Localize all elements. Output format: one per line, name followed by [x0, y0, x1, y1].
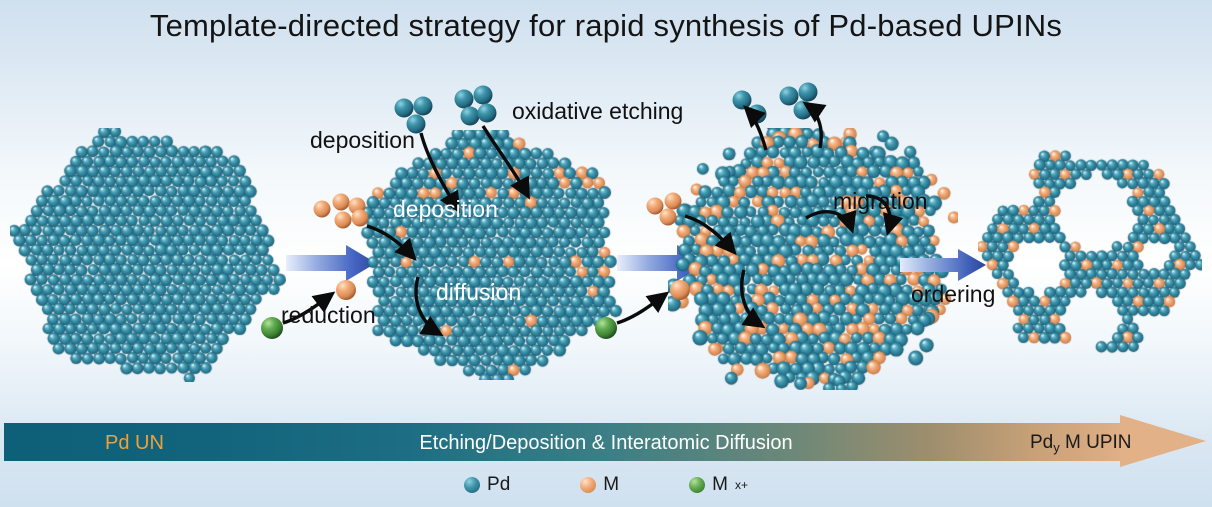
legend-m: M — [580, 474, 619, 496]
label-oxidative-etching: oxidative etching — [512, 100, 683, 123]
product-suffix-text: M UPIN — [1065, 432, 1132, 453]
arrow-diffusion-stage3 — [742, 270, 762, 326]
legend-m-ion: Mx+ — [689, 474, 748, 496]
legend-m-ion-label: M — [712, 474, 728, 496]
label-reduction-1: reduction — [281, 304, 376, 327]
free-m-atom-cluster-stage3 — [647, 193, 682, 226]
m-sphere-icon — [580, 477, 596, 493]
product-prefix: Pd — [1030, 432, 1053, 453]
label-migration: migration — [833, 190, 928, 213]
legend-pd-label: Pd — [487, 474, 510, 496]
label-diffusion: diffusion — [436, 281, 521, 304]
graphical-abstract-figure: Template-directed strategy for rapid syn… — [0, 0, 1212, 507]
arrow-deposition-m-stage3 — [685, 216, 734, 252]
arrow-migration-stage3 — [806, 212, 852, 230]
pd-sphere-icon — [464, 477, 480, 493]
arrow-oxidative-etching-stage2 — [483, 126, 528, 196]
legend-m-label: M — [603, 474, 619, 496]
reaction-arrow-overlay — [0, 0, 1212, 420]
reduction-pair-2 — [595, 280, 690, 339]
process-timeline-bar: Pd UN Etching/Deposition & Interatomic D… — [0, 415, 1212, 467]
legend: Pd M Mx+ — [0, 470, 1212, 500]
legend-m-ion-superscript: x+ — [735, 478, 748, 492]
label-ordering: ordering — [911, 283, 995, 306]
label-deposition-outer: deposition — [310, 129, 415, 152]
legend-pd: Pd — [464, 474, 510, 496]
m-ion-sphere-icon — [689, 477, 705, 493]
detached-pd-cluster-etched-stage2 — [455, 86, 497, 126]
detached-pd-cluster-etched-stage3 — [780, 83, 818, 120]
free-m-atom-cluster-stage2 — [314, 194, 369, 229]
detached-pd-cluster-stage3 — [733, 91, 767, 124]
arrow-deposition-m-stage2 — [367, 226, 414, 258]
label-deposition-inner: deposition — [393, 198, 498, 221]
bar-label-product: Pdy M UPIN — [1030, 432, 1132, 455]
